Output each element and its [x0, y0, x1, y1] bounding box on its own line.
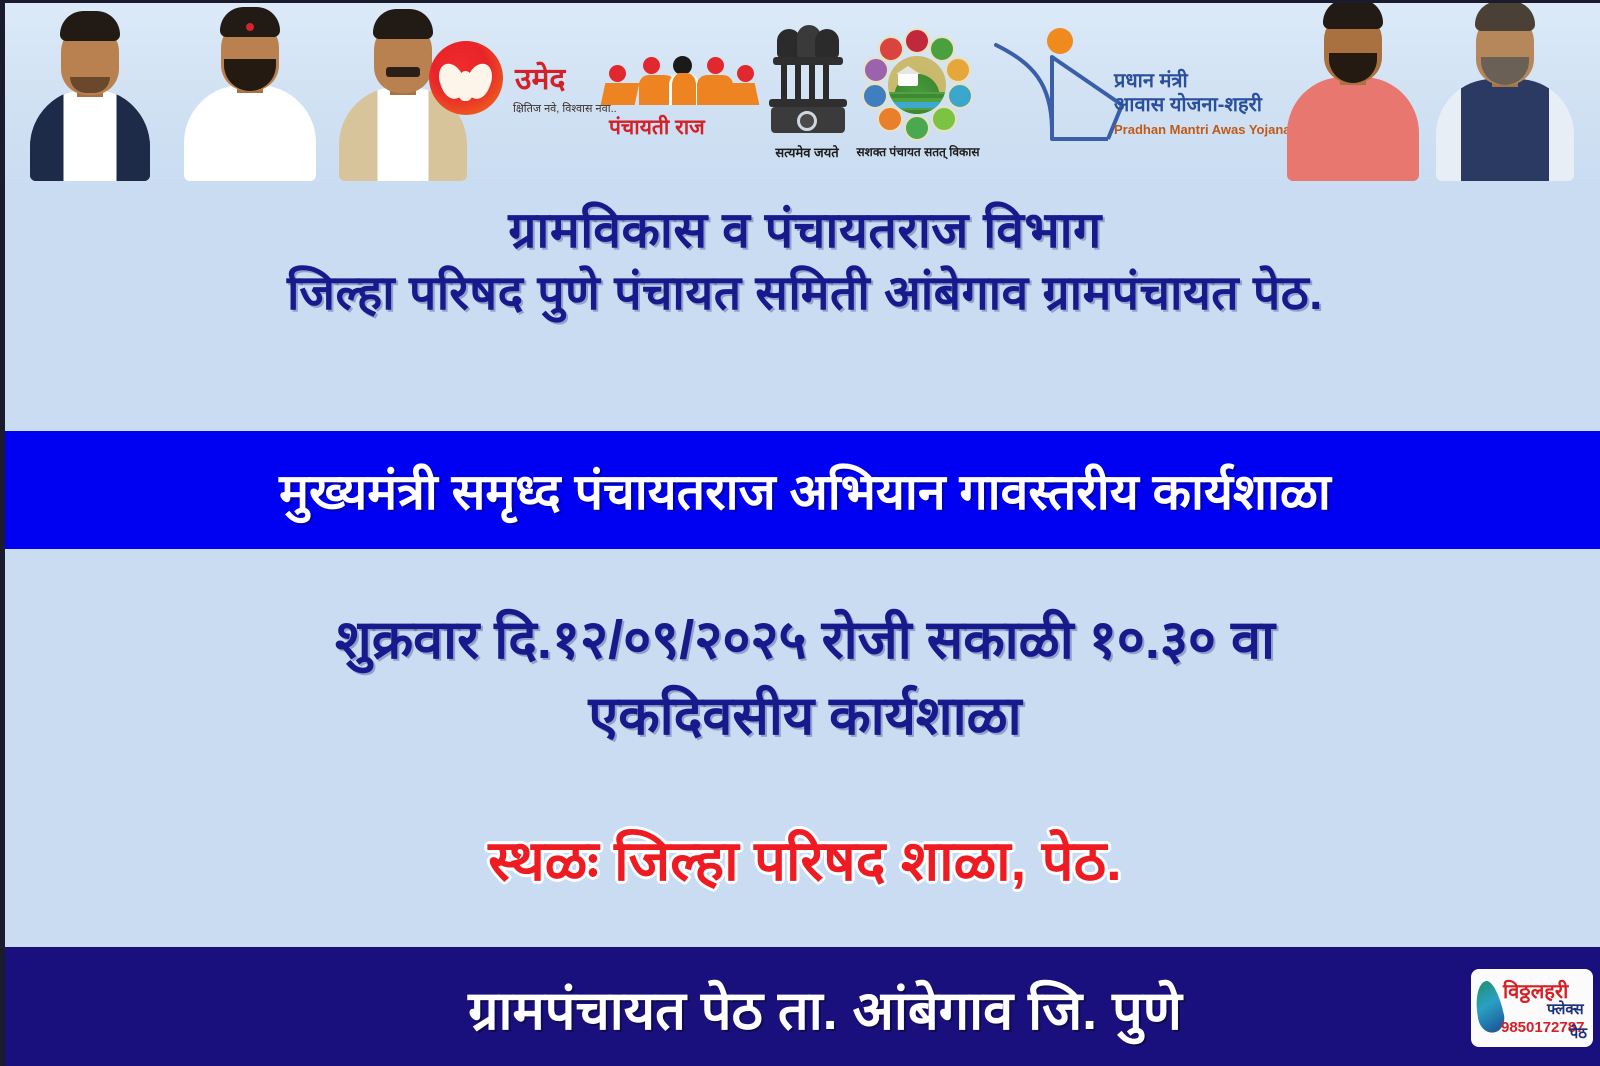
panchayati-raj-people-icon	[603, 55, 755, 111]
campaign-banner-text: मुख्यमंत्री समृध्द पंचायतराज अभियान गावस…	[279, 456, 1331, 524]
event-poster: उमेद क्षितिज नवे, विश्वास नवा.. पंचायती …	[0, 0, 1600, 1066]
pmay-line1: प्रधान मंत्री	[1114, 71, 1188, 92]
printer-logo: विठ्ठलहरी फ्लेक्स 9850172787 पेठ	[1471, 969, 1593, 1047]
footer-text: ग्रामपंचायत पेठ ता. आंबेगाव जि. पुणे	[5, 971, 1600, 1045]
leader-portrait-5	[1425, 3, 1585, 181]
event-date-line: शुक्रवार दि.१२/०९/२०२५ रोजी सकाळी १०.३० …	[5, 603, 1600, 679]
event-venue-text: स्थळः जिल्हा परिषद शाळा, पेठ.	[488, 829, 1121, 892]
helping-hands-icon	[429, 41, 503, 115]
umed-logo: उमेद क्षितिज नवे, विश्वास नवा..	[429, 37, 599, 157]
event-venue-row: स्थळः जिल्हा परिषद शाळा, पेठ.	[5, 821, 1600, 897]
department-title: ग्रामविकास व पंचायतराज विभाग	[5, 199, 1600, 262]
event-type-line: एकदिवसीय कार्यशाळा	[5, 679, 1600, 755]
header-band: उमेद क्षितिज नवे, विश्वास नवा.. पंचायती …	[5, 3, 1600, 193]
spsd-caption: सशक्त पंचायत सतत् विकास	[843, 143, 993, 160]
organization-title: जिल्हा परिषद पुणे पंचायत समिती आंबेगाव ग…	[5, 262, 1600, 327]
sdg-village-wheel-icon	[863, 31, 971, 139]
printer-sub: फ्लेक्स	[1547, 999, 1584, 1019]
printer-place: पेठ	[1570, 1023, 1587, 1043]
pmay-logo: प्रधान मंत्री आवास योजना-शहरी Pradhan Ma…	[990, 27, 1220, 167]
poster-title-block: ग्रामविकास व पंचायतराज विभाग जिल्हा परिष…	[5, 199, 1600, 326]
umed-title: उमेद	[515, 57, 565, 98]
national-emblem-logo: सत्यमेव जयते	[759, 25, 855, 167]
emblem-caption: सत्यमेव जयते	[759, 143, 855, 161]
pmay-line2: आवास योजना-शहरी	[1114, 95, 1262, 116]
panchayati-raj-logo: पंचायती राज	[603, 55, 755, 165]
pmay-house-icon	[990, 27, 1130, 157]
footer-band: ग्रामपंचायत पेठ ता. आंबेगाव जि. पुणे विठ…	[5, 947, 1600, 1066]
event-date-block: शुक्रवार दि.१२/०९/२०२५ रोजी सकाळी १०.३० …	[5, 603, 1600, 754]
leader-portrait-4	[1275, 3, 1430, 181]
spsd-logo: सशक्त पंचायत सतत् विकास	[853, 31, 983, 167]
ashoka-lion-capital-icon	[759, 25, 855, 141]
leader-portrait-2	[170, 3, 330, 181]
campaign-banner: मुख्यमंत्री समृध्द पंचायतराज अभियान गावस…	[5, 431, 1600, 549]
leader-portrait-1	[15, 5, 165, 181]
panchayati-raj-title: पंचायती राज	[609, 113, 705, 141]
